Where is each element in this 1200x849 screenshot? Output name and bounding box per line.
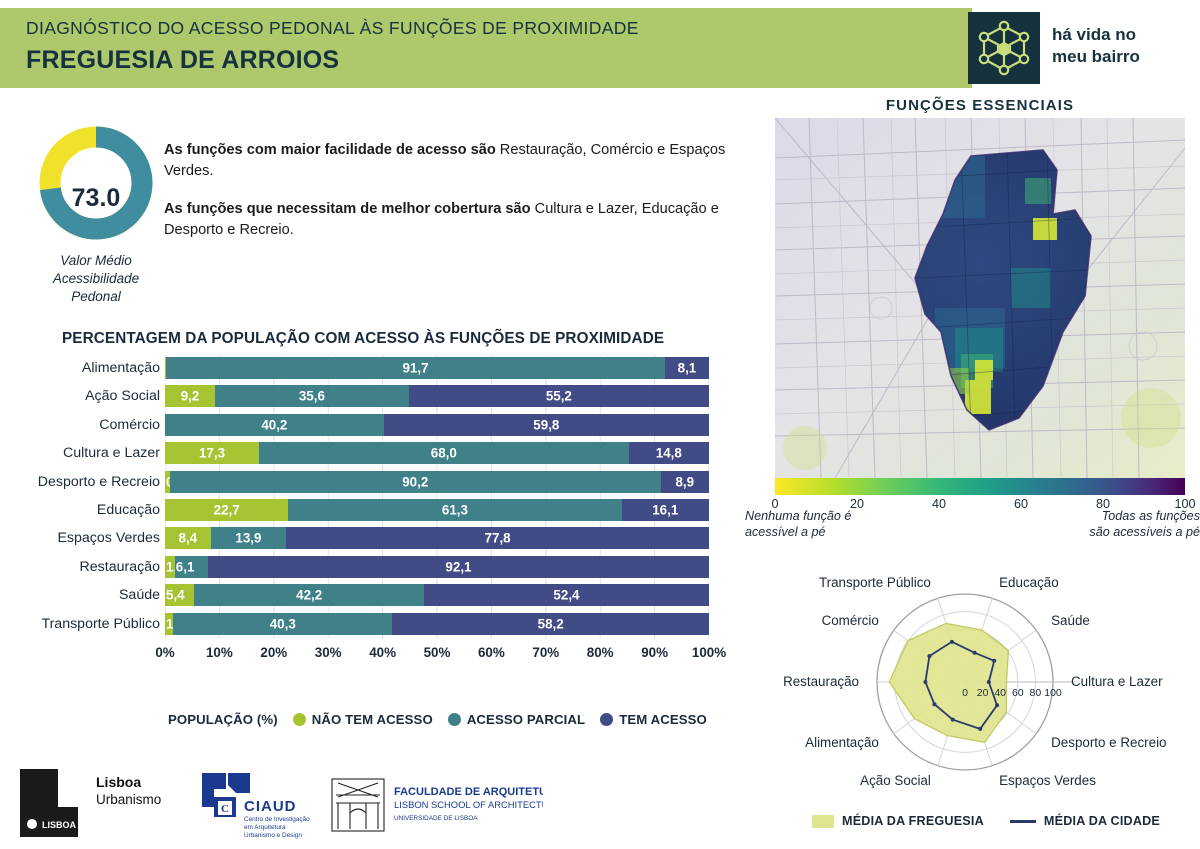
bar-segment: 58,2 <box>392 613 709 635</box>
bar-segment: 1,5 <box>165 613 173 635</box>
bar-axis-tick: 50% <box>424 645 451 660</box>
radar-tick-label: 20 <box>977 687 989 699</box>
bar-track: 8,413,977,8 <box>165 527 709 549</box>
bar-track: 17,368,014,8 <box>165 442 709 464</box>
bar-segment: 91,7 <box>166 357 665 379</box>
bar-segment-value: 40,3 <box>173 616 392 631</box>
bar-chart-x-axis: 0%10%20%30%40%50%60%70%80%90%100% <box>165 645 709 665</box>
bar-segment: 77,8 <box>286 527 709 549</box>
radar-data-point <box>992 659 996 663</box>
svg-text:LISBON SCHOOL OF ARCHITECTURE: LISBON SCHOOL OF ARCHITECTURE <box>394 799 543 810</box>
radar-axis-label: Cultura e Lazer <box>1071 674 1163 689</box>
svg-text:LISBOA: LISBOA <box>42 820 77 830</box>
header-subtitle: DIAGNÓSTICO DO ACESSO PEDONAL ÀS FUNÇÕES… <box>26 18 926 39</box>
bar-axis-tick: 100% <box>692 645 726 660</box>
svg-text:Urbanismo e Design: Urbanismo e Design <box>244 832 302 839</box>
bar-segment-value: 58,2 <box>392 616 709 631</box>
bar-row: Comércio40,259,8 <box>0 412 740 440</box>
bar-chart-title: PERCENTAGEM DA POPULAÇÃO COM ACESSO ÀS F… <box>62 330 664 348</box>
bar-category-label: Espaços Verdes <box>0 527 160 549</box>
bar-segment: 6,1 <box>175 556 208 578</box>
bar-legend-swatch <box>448 713 461 726</box>
bar-segment-value: 35,6 <box>215 389 409 404</box>
bar-segment: 90,2 <box>170 471 661 493</box>
page-title: FREGUESIA DE ARROIOS <box>26 46 926 75</box>
radar-legend-swatch-area <box>812 815 834 828</box>
lisboa-logo-line1: Lisboa <box>96 773 161 791</box>
bar-segment-value: 8,9 <box>661 474 709 489</box>
radar-axis-label: Ação Social <box>860 773 931 788</box>
radar-axis-label: Alimentação <box>805 735 879 750</box>
bar-segment: 9,2 <box>165 385 215 407</box>
bar-segment: 8,9 <box>661 471 709 493</box>
bar-category-label: Ação Social <box>0 385 160 407</box>
bar-segment-value: 9,2 <box>165 389 215 404</box>
bar-legend-item: TEM ACESSO <box>600 712 707 727</box>
bar-chart-rows: Alimentação0,291,78,1Ação Social9,235,65… <box>0 355 740 639</box>
svg-text:em Arquitetura: em Arquitetura <box>244 824 286 831</box>
bar-segment-value: 5,4 <box>165 588 194 603</box>
bar-row: Cultura e Lazer17,368,014,8 <box>0 440 740 468</box>
bar-category-label: Transporte Público <box>0 613 160 635</box>
bar-track: 1,86,192,1 <box>165 556 709 578</box>
radar-axis-label: Espaços Verdes <box>999 773 1096 788</box>
bar-segment-value: 17,3 <box>165 446 259 461</box>
bar-segment: 17,3 <box>165 442 259 464</box>
bar-segment: 40,2 <box>165 414 384 436</box>
svg-text:C: C <box>221 803 229 815</box>
bar-segment: 22,7 <box>165 499 288 521</box>
bar-segment: 40,3 <box>173 613 392 635</box>
bar-segment: 42,2 <box>194 584 424 606</box>
bar-segment-value: 1,8 <box>165 559 175 574</box>
radar-axis-label: Comércio <box>822 613 879 628</box>
summary-worst-bold: As funções que necessitam de melhor cobe… <box>164 201 531 217</box>
bar-segment: 14,8 <box>629 442 709 464</box>
bar-row: Alimentação0,291,78,1 <box>0 355 740 383</box>
bar-segment: 35,6 <box>215 385 409 407</box>
radar-data-point <box>951 718 955 722</box>
radar-data-point <box>950 640 954 644</box>
bar-track: 40,259,8 <box>165 414 709 436</box>
bar-segment: 8,4 <box>165 527 211 549</box>
accessibility-map[interactable] <box>775 118 1185 478</box>
bar-segment-value: 1,5 <box>165 616 173 631</box>
svg-text:UNIVERSIDADE DE LISBOA: UNIVERSIDADE DE LISBOA <box>394 815 478 822</box>
colorbar-tick: 60 <box>1014 497 1028 511</box>
bar-segment-value: 16,1 <box>622 502 710 517</box>
bar-track: 9,235,655,2 <box>165 385 709 407</box>
bar-row: Saúde5,442,252,4 <box>0 582 740 610</box>
bar-axis-tick: 20% <box>260 645 287 660</box>
bar-legend-label: ACESSO PARCIAL <box>467 712 585 727</box>
brand-tagline-line1: há vida no <box>1052 24 1140 46</box>
bar-segment-value: 13,9 <box>211 531 287 546</box>
radar-axis-label: Transporte Público <box>819 575 931 590</box>
radar-chart: 020406080100EducaçãoSaúdeCultura e Lazer… <box>760 572 1200 797</box>
bar-legend-prefix: POPULAÇÃO (%) <box>168 712 278 727</box>
svg-text:Centro de Investigação: Centro de Investigação <box>244 816 310 823</box>
bar-row: Espaços Verdes8,413,977,8 <box>0 525 740 553</box>
bar-row: Transporte Público1,540,358,2 <box>0 611 740 639</box>
bar-segment: 55,2 <box>409 385 709 407</box>
bar-category-label: Educação <box>0 499 160 521</box>
bar-segment-value: 90,2 <box>170 474 661 489</box>
radar-axis-label: Saúde <box>1051 613 1090 628</box>
radar-data-point <box>973 651 977 655</box>
donut-value-label: 73.0 <box>32 184 160 213</box>
bar-segment-value: 42,2 <box>194 588 424 603</box>
bar-category-label: Comércio <box>0 414 160 436</box>
radar-tick-label: 60 <box>1012 687 1024 699</box>
radar-axis-label: Educação <box>999 575 1059 590</box>
bar-segment-value: 6,1 <box>175 559 208 574</box>
radar-tick-label: 40 <box>994 687 1006 699</box>
bar-track: 0,990,28,9 <box>165 471 709 493</box>
radar-data-point <box>932 702 936 706</box>
summary-text: As funções com maior facilidade de acess… <box>164 140 730 241</box>
radar-tick-label: 0 <box>962 687 968 699</box>
brand-logo-icon <box>968 12 1040 84</box>
bar-track: 22,761,316,1 <box>165 499 709 521</box>
bar-legend-label: NÃO TEM ACESSO <box>312 712 433 727</box>
radar-tick-label: 100 <box>1044 687 1062 699</box>
summary-paragraph-best: As funções com maior facilidade de acess… <box>164 140 730 182</box>
bar-legend-label: TEM ACESSO <box>619 712 707 727</box>
radar-tick-label: 80 <box>1030 687 1042 699</box>
bar-segment: 61,3 <box>288 499 621 521</box>
bar-segment-value: 8,1 <box>665 361 709 376</box>
lisboa-logo-line2: Urbanismo <box>96 791 161 809</box>
bar-track: 1,540,358,2 <box>165 613 709 635</box>
radar-legend-item-cidade: MÉDIA DA CIDADE <box>1010 814 1160 828</box>
colorbar-tick: 40 <box>932 497 946 511</box>
bar-axis-tick: 40% <box>369 645 396 660</box>
bar-axis-tick: 80% <box>587 645 614 660</box>
bar-legend-item: NÃO TEM ACESSO <box>293 712 433 727</box>
bar-axis-tick: 60% <box>478 645 505 660</box>
radar-chart-legend: MÉDIA DA FREGUESIA MÉDIA DA CIDADE <box>812 814 1160 828</box>
bar-segment-value: 22,7 <box>165 502 288 517</box>
bar-chart: Alimentação0,291,78,1Ação Social9,235,65… <box>0 355 740 639</box>
bar-row: Desporto e Recreio0,990,28,9 <box>0 469 740 497</box>
bar-legend-swatch <box>600 713 613 726</box>
bar-segment-value: 14,8 <box>629 446 709 461</box>
bar-track: 0,291,78,1 <box>165 357 709 379</box>
bar-axis-tick: 30% <box>315 645 342 660</box>
radar-data-point <box>978 727 982 731</box>
header-title-group: DIAGNÓSTICO DO ACESSO PEDONAL ÀS FUNÇÕES… <box>26 18 926 75</box>
bar-segment-value: 59,8 <box>384 417 709 432</box>
bar-segment-value: 77,8 <box>286 531 709 546</box>
summary-paragraph-worst: As funções que necessitam de melhor cobe… <box>164 199 730 241</box>
bar-segment-value: 91,7 <box>166 361 665 376</box>
summary-best-bold: As funções com maior facilidade de acess… <box>164 142 496 158</box>
accessibility-score-donut: 73.0 Valor Médio Acessibilidade Pedonal <box>32 126 160 305</box>
bar-legend-item: ACESSO PARCIAL <box>448 712 585 727</box>
bar-segment: 8,1 <box>665 357 709 379</box>
donut-caption: Valor Médio Acessibilidade Pedonal <box>32 252 160 305</box>
map-title: FUNÇÕES ESSENCIAIS <box>760 97 1200 114</box>
bar-row: Restauração1,86,192,1 <box>0 554 740 582</box>
bar-category-label: Desporto e Recreio <box>0 471 160 493</box>
bar-category-label: Cultura e Lazer <box>0 442 160 464</box>
brand-tagline: há vida no meu bairro <box>1052 24 1140 68</box>
bar-segment-value: 61,3 <box>288 502 621 517</box>
bar-axis-tick: 0% <box>155 645 174 660</box>
bar-category-label: Restauração <box>0 556 160 578</box>
bar-segment: 59,8 <box>384 414 709 436</box>
radar-legend-label-cidade: MÉDIA DA CIDADE <box>1044 814 1160 828</box>
lisboa-logo-icon: LISBOA <box>18 767 80 839</box>
bar-segment: 1,8 <box>165 556 175 578</box>
radar-data-point <box>923 680 927 684</box>
colorbar-caption-right: Todas as funções são acessíveis a pé <box>1080 508 1200 541</box>
bar-segment-value: 40,2 <box>165 417 384 432</box>
bar-segment-value: 68,0 <box>259 446 629 461</box>
radar-legend-swatch-line <box>1010 820 1036 823</box>
radar-data-point <box>995 703 999 707</box>
bar-segment-value: 52,4 <box>424 588 709 603</box>
bar-segment: 68,0 <box>259 442 629 464</box>
radar-legend-label-freguesia: MÉDIA DA FREGUESIA <box>842 814 984 828</box>
colorbar-caption-left: Nenhuma função é acessível a pé <box>745 508 865 541</box>
bar-segment-value: 92,1 <box>208 559 709 574</box>
bar-segment: 52,4 <box>424 584 709 606</box>
radar-data-point <box>927 654 931 658</box>
bar-segment: 16,1 <box>622 499 710 521</box>
bar-legend-swatch <box>293 713 306 726</box>
lisboa-logo-text: Lisboa Urbanismo <box>96 773 161 809</box>
bar-category-label: Alimentação <box>0 357 160 379</box>
bar-legend-items: NÃO TEM ACESSOACESSO PARCIALTEM ACESSO <box>293 712 707 727</box>
radar-legend-item-freguesia: MÉDIA DA FREGUESIA <box>812 814 984 828</box>
svg-text:CIAUD: CIAUD <box>244 798 297 815</box>
bar-segment-value: 55,2 <box>409 389 709 404</box>
bar-segment: 92,1 <box>208 556 709 578</box>
bar-row: Ação Social9,235,655,2 <box>0 383 740 411</box>
radar-axis-label: Desporto e Recreio <box>1051 735 1166 750</box>
bar-track: 5,442,252,4 <box>165 584 709 606</box>
map-colorbar-gradient <box>775 478 1185 495</box>
bar-row: Educação22,761,316,1 <box>0 497 740 525</box>
bar-chart-legend: POPULAÇÃO (%) NÃO TEM ACESSOACESSO PARCI… <box>168 712 707 727</box>
bar-segment: 13,9 <box>211 527 287 549</box>
brand-tagline-line2: meu bairro <box>1052 46 1140 68</box>
bar-axis-tick: 10% <box>206 645 233 660</box>
bar-category-label: Saúde <box>0 584 160 606</box>
bar-segment-value: 8,4 <box>165 531 211 546</box>
radar-data-point <box>987 680 991 684</box>
bar-axis-tick: 90% <box>641 645 668 660</box>
bar-segment: 5,4 <box>165 584 194 606</box>
faculdade-arquitetura-logo-icon: FACULDADE DE ARQUITETURA LISBON SCHOOL O… <box>328 773 543 835</box>
bar-axis-tick: 70% <box>532 645 559 660</box>
svg-text:FACULDADE DE ARQUITETURA: FACULDADE DE ARQUITETURA <box>394 786 543 798</box>
radar-axis-label: Restauração <box>783 674 859 689</box>
